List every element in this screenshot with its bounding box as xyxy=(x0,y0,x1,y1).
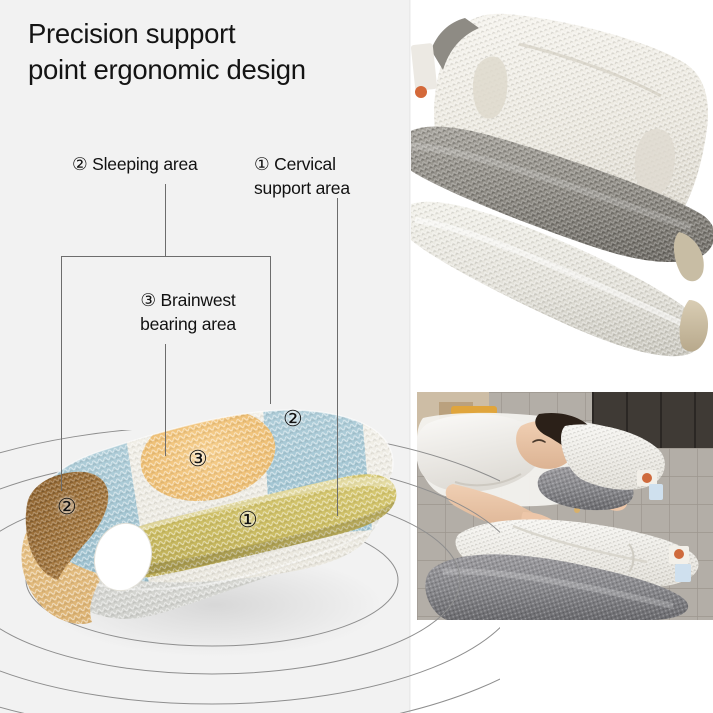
callout-label-sleeping: ② Sleeping area xyxy=(72,152,262,176)
callout-label-brainwest: ③ Brainwest bearing area xyxy=(98,288,278,336)
callout-label-brainwest-line2: bearing area xyxy=(98,312,278,336)
pillow-marker-brainwest: ③ xyxy=(188,446,208,472)
leader-line-sleeping xyxy=(165,184,166,257)
callout-label-cervical: ① Cervical support area xyxy=(254,152,404,200)
pillow-marker-sleeping-right: ② xyxy=(283,406,303,432)
page-title: Precision support point ergonomic design xyxy=(28,16,428,88)
leader-bracket-left-leg xyxy=(61,256,62,491)
callout-label-cervical-line1: ① Cervical xyxy=(254,152,404,176)
infographic-canvas: Precision support point ergonomic design… xyxy=(0,0,713,713)
leader-line-brainwest xyxy=(165,344,166,456)
pillow-marker-sleeping-left: ② xyxy=(57,494,77,520)
callout-label-cervical-line2: support area xyxy=(254,176,404,200)
leader-bracket-bar xyxy=(61,256,270,257)
photo-pillow-tag-2 xyxy=(649,484,663,500)
pillow-marker-cervical: ① xyxy=(238,507,258,533)
callout-label-brainwest-line1: ③ Brainwest xyxy=(98,288,278,312)
leader-line-cervical xyxy=(337,198,338,516)
product-photo-stacked-pillows xyxy=(411,0,713,372)
